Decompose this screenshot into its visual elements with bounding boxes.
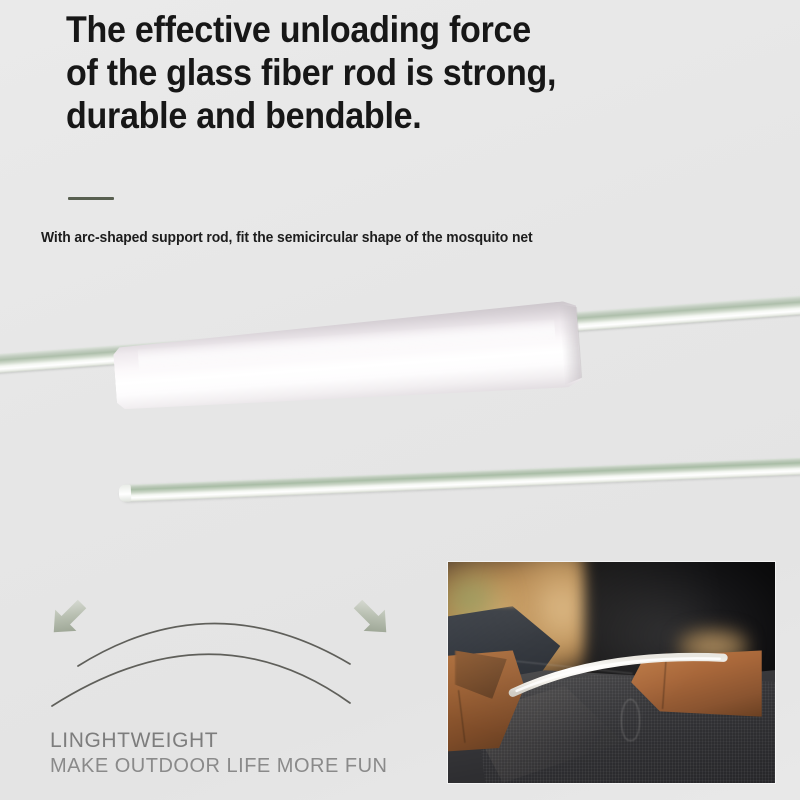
lifestyle-photo xyxy=(448,562,775,783)
title-divider xyxy=(68,197,114,200)
subtitle-text: With arc-shaped support rod, fit the sem… xyxy=(41,230,533,246)
arrow-down-right-icon xyxy=(347,593,396,642)
tagline-primary: LINGHTWEIGHT xyxy=(50,729,218,753)
arc-upper xyxy=(78,623,350,666)
product-feature-page: The effective unloading force of the gla… xyxy=(0,0,800,800)
bend-arc-diagram xyxy=(40,588,400,713)
arrow-down-left-icon xyxy=(43,593,92,642)
photo-light-highlight xyxy=(448,562,775,783)
arc-lower xyxy=(52,654,350,706)
rod-shaft-plain xyxy=(120,457,800,502)
product-rod-plain xyxy=(120,455,800,525)
rod-connector-sleeve xyxy=(112,300,582,419)
page-title: The effective unloading force of the gla… xyxy=(66,8,655,137)
product-rod-with-connector xyxy=(0,300,800,430)
tagline-secondary: MAKE OUTDOOR LIFE MORE FUN xyxy=(50,755,387,778)
rod-cut-end xyxy=(119,485,132,502)
